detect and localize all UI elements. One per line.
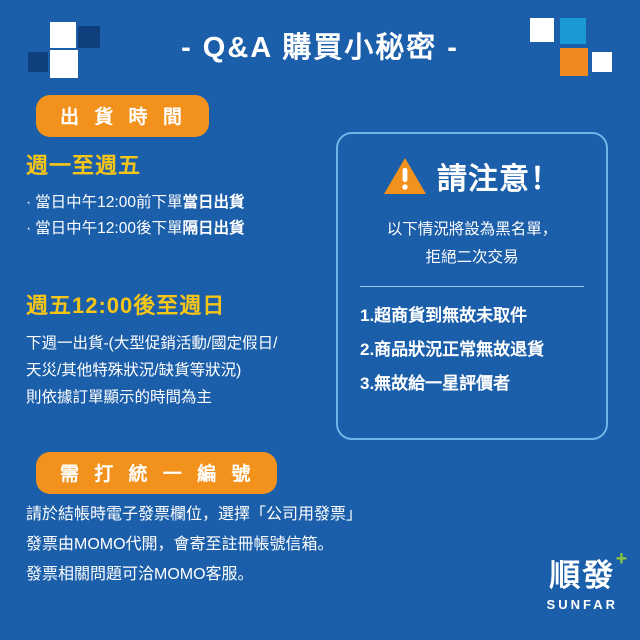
weekend-line-1: 下週一出貨-(大型促銷活動/國定假日/ [26,330,277,357]
list-item: 3.無故給一星評價者 [360,367,590,401]
bullet-text: 當日中午12:00前下單 [35,194,182,211]
title-dash-left: - [171,32,203,64]
title-text: Q&A 購買小秘密 [203,32,437,64]
section-heading-shipping: 出 貨 時 間 [36,95,209,137]
title-dash-right: - [437,32,469,64]
poster-canvas: -Q&A 購買小秘密- 出 貨 時 間 週一至週五 ·當日中午12:00前下單當… [0,0,640,640]
bullet-dot-icon: · [26,220,31,237]
logo-plus-icon: + [616,548,630,571]
page-title: -Q&A 購買小秘密- [0,24,640,66]
bullet-dot-icon: · [26,194,31,211]
block-weekday: 週一至週五 ·當日中午12:00前下單當日出貨 ·當日中午12:00後下單隔日出… [26,148,244,242]
section-heading-tax: 需 打 統 一 編 號 [36,452,277,494]
list-item: ·當日中午12:00前下單當日出貨 [26,190,244,216]
brand-logo: 順發 + SUNFAR [547,550,618,612]
bullet-text: 當日中午12:00後下單 [35,220,182,237]
weekend-line-3: 則依據訂單顯示的時間為主 [26,384,277,411]
logo-chinese-name: 順發 + [549,550,615,595]
notice-subtitle-line-2: 拒絕二次交易 [354,244,590,272]
notice-header: 請注意！ [354,154,590,198]
tax-line-1: 請於結帳時電子發票欄位，選擇「公司用發票」 [26,500,446,530]
tax-line-3: 發票相關問題可洽MOMO客服。 [26,560,446,590]
weekend-line-2: 天災/其他特殊狀況/缺貨等狀況) [26,357,277,384]
tax-line-2: 發票由MOMO代開，會寄至註冊帳號信箱。 [26,530,446,560]
notice-subtitle: 以下情況將設為黑名單， 拒絕二次交易 [354,216,590,272]
notice-title: 請注意！ [437,154,561,198]
bullet-strong: 隔日出貨 [182,220,244,237]
notice-divider [360,286,584,287]
weekend-heading: 週五12:00後至週日 [26,288,277,320]
block-weekend: 週五12:00後至週日 下週一出貨-(大型促銷活動/國定假日/ 天災/其他特殊狀… [26,288,277,411]
list-item: 1.超商貨到無故未取件 [360,299,590,333]
notice-panel: 請注意！ 以下情況將設為黑名單， 拒絕二次交易 1.超商貨到無故未取件 2.商品… [336,132,608,440]
logo-english-name: SUNFAR [547,597,618,612]
list-item: 2.商品狀況正常無故退貨 [360,333,590,367]
bullet-strong: 當日出貨 [182,194,244,211]
list-item: ·當日中午12:00後下單隔日出貨 [26,216,244,242]
notice-list: 1.超商貨到無故未取件 2.商品狀況正常無故退貨 3.無故給一星評價者 [354,299,590,401]
weekend-paragraph: 下週一出貨-(大型促銷活動/國定假日/ 天災/其他特殊狀況/缺貨等狀況) 則依據… [26,330,277,411]
tax-paragraph: 請於結帳時電子發票欄位，選擇「公司用發票」 發票由MOMO代開，會寄至註冊帳號信… [26,500,446,590]
logo-chinese-text: 順發 [549,558,615,593]
warning-triangle-icon [383,156,427,196]
weekday-heading: 週一至週五 [26,148,244,180]
notice-subtitle-line-1: 以下情況將設為黑名單， [354,216,590,244]
weekday-bullets: ·當日中午12:00前下單當日出貨 ·當日中午12:00後下單隔日出貨 [26,190,244,242]
